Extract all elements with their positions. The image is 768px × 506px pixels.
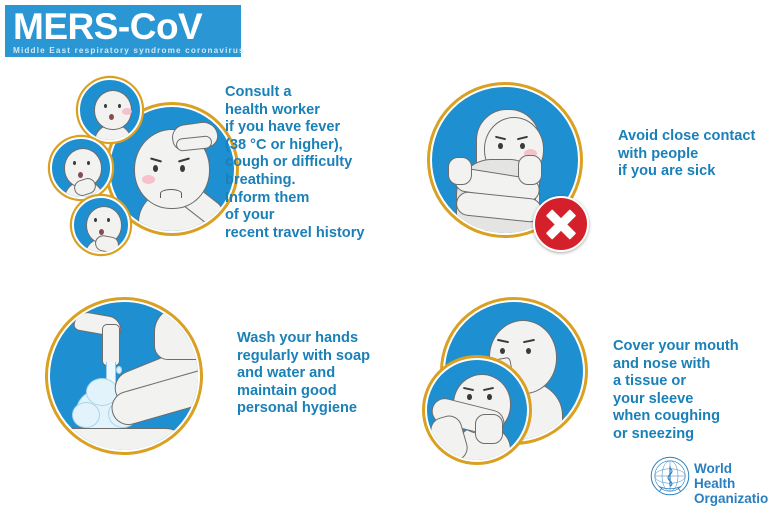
illustration-symptom-cough [50, 137, 112, 199]
figure-eye-left [104, 104, 107, 108]
illustration-cough-into-elbow [425, 358, 529, 462]
figure-cheek [122, 108, 132, 115]
panel-text-consult: Consult a health worker if you have feve… [225, 84, 410, 242]
figure-eye-left [498, 143, 503, 149]
page-subtitle: Middle East respiratory syndrome coronav… [13, 46, 233, 56]
illustration-symptom-sneeze [78, 78, 142, 142]
figure-finger [175, 135, 212, 152]
figure-eye-left [467, 394, 472, 400]
figure-eye-right [107, 218, 110, 222]
figure-eye-right [526, 348, 531, 354]
figure-cheek [142, 175, 155, 184]
figure-eye-right [487, 394, 492, 400]
illustration-symptom-breathing [72, 196, 130, 254]
faucet-neck [102, 324, 120, 366]
shoulder [154, 306, 200, 360]
who-emblem-icon [650, 456, 690, 496]
figure-hand-right [518, 155, 542, 185]
figure-mouth [109, 114, 114, 120]
figure-mouth [99, 229, 104, 235]
panel-text-wash-hands: Wash your hands regularly with soap and … [237, 330, 407, 418]
figure-eye-right [118, 104, 121, 108]
page-title: MERS-CoV [13, 8, 233, 45]
figure-eye-right [87, 161, 90, 165]
title-banner: MERS-CoV Middle East respiratory syndrom… [5, 5, 241, 57]
figure-mouth [78, 172, 83, 178]
sink-rim [60, 428, 188, 452]
panel-text-cover-mouth: Cover your mouth and nose with a tissue … [613, 338, 768, 444]
figure-eye-right [520, 143, 525, 149]
figure-eye-left [73, 161, 76, 165]
no-contact-badge [533, 196, 589, 252]
who-logo: World Health Organization [650, 456, 764, 496]
figure-eye-left [94, 218, 97, 222]
figure-hand-left [448, 157, 472, 185]
illustration-handwashing [48, 300, 200, 452]
figure-eye-left [153, 165, 158, 172]
figure-mouth [160, 189, 182, 198]
panel-text-avoid-contact: Avoid close contact with people if you a… [618, 128, 768, 181]
who-logo-text: World Health Organization [694, 461, 768, 506]
figure-eye-right [180, 165, 185, 172]
figure-hand [475, 414, 503, 444]
soap-foam [72, 402, 100, 428]
figure-eye-left [500, 348, 505, 354]
